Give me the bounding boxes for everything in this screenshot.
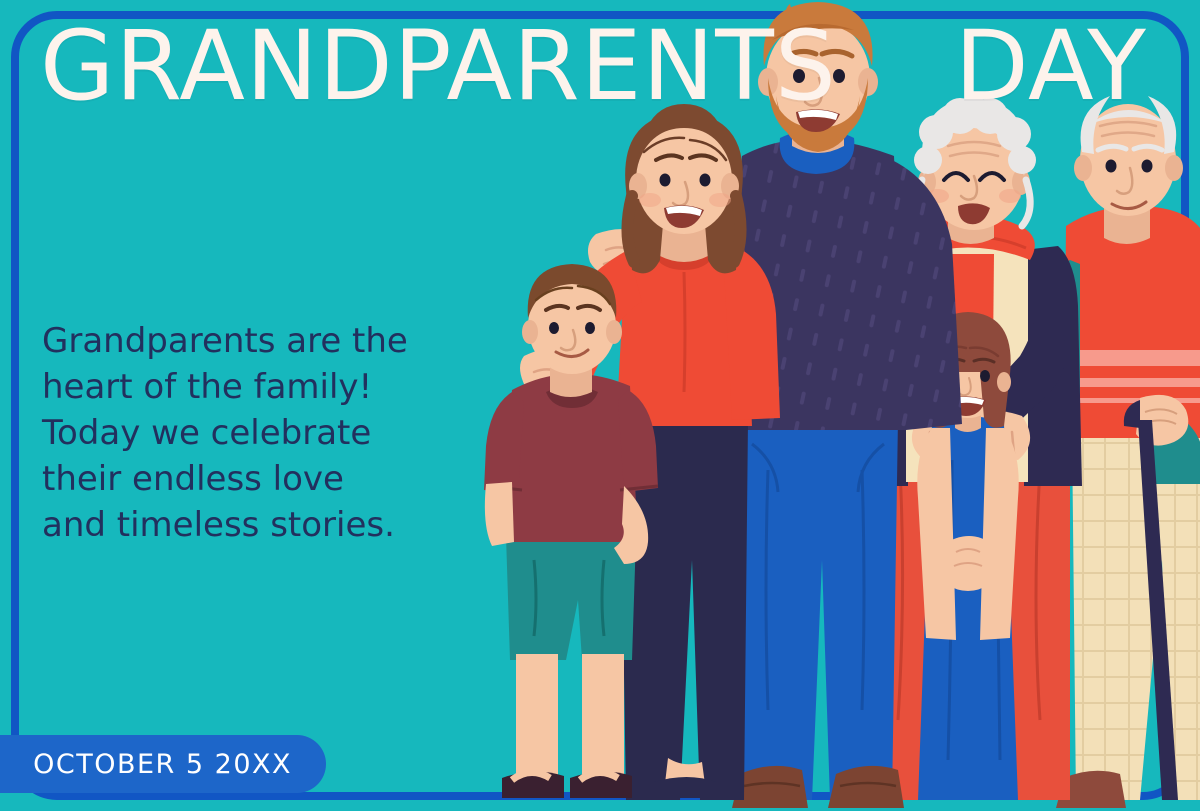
date-badge: OCTOBER 5 20XX	[0, 735, 326, 793]
body-line-3: Today we celebrate	[42, 410, 482, 456]
body-line-1: Grandparents are the	[42, 318, 482, 364]
figure-grandfather	[1036, 96, 1200, 808]
figure-boy	[484, 264, 658, 798]
body-line-4: their endless love	[42, 456, 482, 502]
title-word-day: DAY	[955, 18, 1147, 114]
date-badge-label: OCTOBER 5 20XX	[33, 749, 292, 780]
grandparents-day-poster: GRANDPARENTSDAY Grandparents are the hea…	[0, 0, 1200, 811]
figure-mother	[520, 104, 780, 800]
body-text: Grandparents are the heart of the family…	[42, 318, 482, 548]
body-line-2: heart of the family!	[42, 364, 482, 410]
figure-father	[588, 2, 962, 808]
page-title: GRANDPARENTSDAY	[40, 18, 1147, 114]
title-word-grandparents: GRANDPARENTS	[40, 18, 837, 114]
figure-grandmother	[850, 98, 1082, 800]
body-line-5: and timeless stories.	[42, 502, 482, 548]
figure-granddaughter	[917, 312, 1018, 800]
